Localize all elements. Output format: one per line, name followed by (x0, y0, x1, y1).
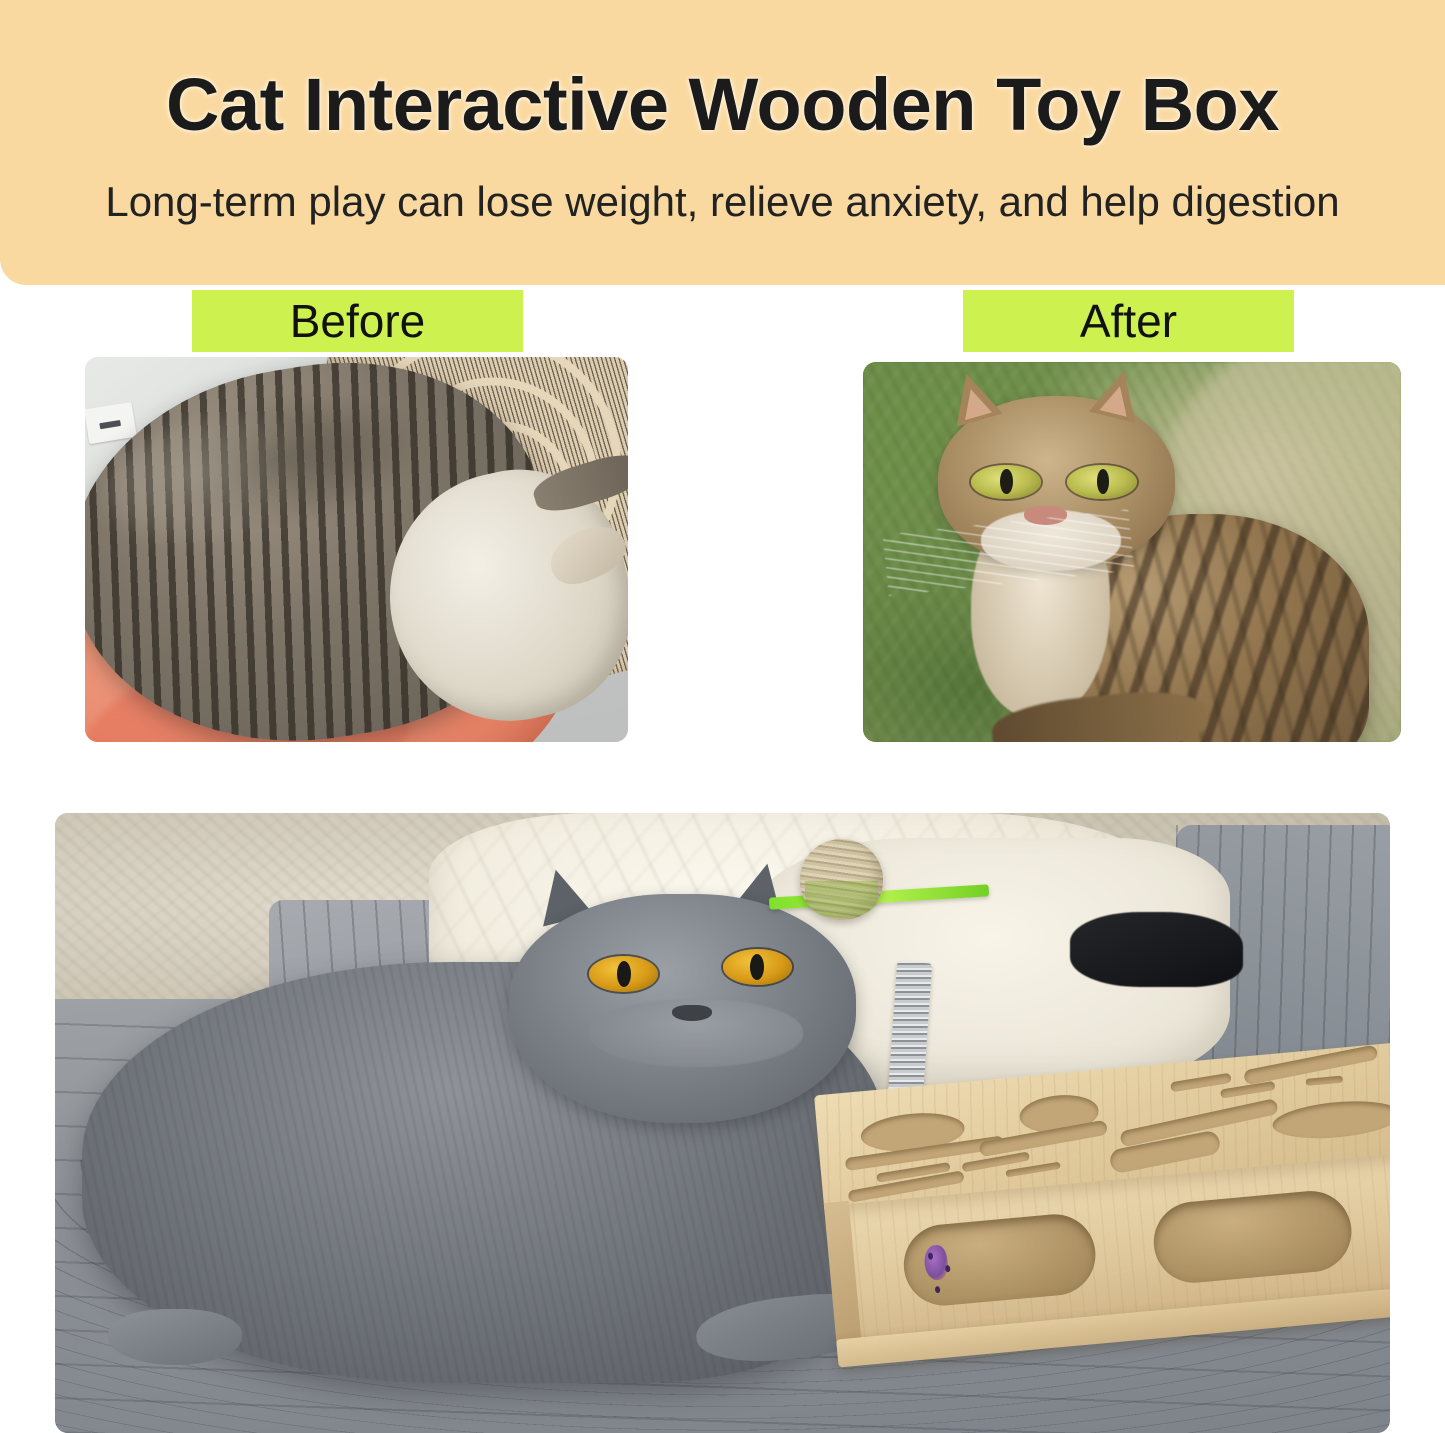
wooden-toy-box (814, 1040, 1390, 1433)
after-photo (863, 362, 1401, 742)
after-label-chip: After (963, 290, 1294, 352)
gray-cat-eye-right (723, 949, 792, 985)
header-banner: Cat Interactive Wooden Toy Box Long-term… (0, 0, 1445, 285)
gray-cat-eye-left (589, 956, 658, 992)
page-title: Cat Interactive Wooden Toy Box (0, 62, 1445, 147)
cat-eye-right (1067, 465, 1137, 499)
after-scene (863, 362, 1401, 742)
page-subtitle: Long-term play can lose weight, relieve … (0, 178, 1445, 226)
before-scene (85, 357, 628, 742)
toy-mouse (923, 1244, 949, 1281)
cutout-slot-9 (1220, 1081, 1276, 1098)
gray-cat-front-paw (108, 1309, 242, 1365)
side-opening-2 (1150, 1188, 1355, 1286)
main-product-photo (55, 813, 1390, 1433)
cutout-oval-3 (1272, 1096, 1390, 1143)
cutout-slot-11 (1306, 1076, 1343, 1087)
before-label-chip: Before (192, 290, 523, 352)
sisal-ball (800, 839, 883, 920)
side-opening-1 (900, 1211, 1099, 1309)
after-label-text: After (1080, 294, 1177, 348)
black-cloth (1070, 912, 1244, 986)
before-photo-tilt-frame (85, 357, 628, 742)
before-label-text: Before (290, 294, 426, 348)
cutout-slot-5 (1006, 1162, 1062, 1178)
cat-eye-left (971, 465, 1041, 499)
before-photo (85, 357, 628, 742)
